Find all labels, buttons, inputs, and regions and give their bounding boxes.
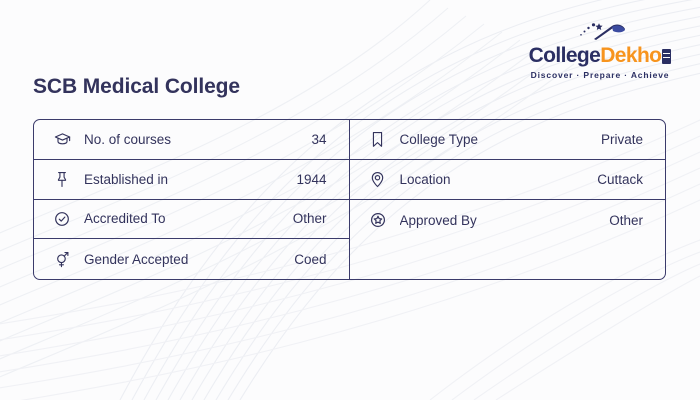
info-label: Location — [400, 172, 588, 187]
info-value: Coed — [294, 252, 326, 267]
info-column-right-filler — [350, 240, 666, 279]
logo-text-dekho: Dekho — [600, 44, 661, 67]
info-row-accredited-to[interactable]: Accredited To Other — [34, 200, 349, 240]
info-label: No. of courses — [84, 132, 301, 147]
info-row-college-type[interactable]: College Type Private — [350, 120, 666, 160]
info-label: Accredited To — [84, 211, 283, 226]
info-label: Gender Accepted — [84, 252, 284, 267]
star-badge-icon — [367, 210, 389, 230]
push-pin-icon — [51, 169, 73, 189]
bookmark-icon — [367, 130, 389, 150]
graduation-cap-icon — [572, 22, 628, 44]
info-value: Other — [609, 213, 643, 228]
info-value: 34 — [311, 132, 326, 147]
page-title: SCB Medical College — [33, 74, 240, 100]
info-label: College Type — [400, 132, 591, 147]
logo-book-mark-icon — [662, 49, 671, 64]
location-pin-icon — [367, 170, 389, 190]
info-label: Approved By — [400, 213, 600, 228]
info-row-no-of-courses[interactable]: No. of courses 34 — [34, 120, 349, 160]
college-info-card: CollegeDekho Discover · Prepare · Achiev… — [0, 0, 700, 400]
info-value: 1944 — [296, 172, 326, 187]
check-circle-icon — [51, 209, 73, 229]
info-value: Other — [293, 211, 327, 226]
logo-text-college: College — [529, 44, 601, 67]
brand-logo[interactable]: CollegeDekho Discover · Prepare · Achiev… — [526, 22, 674, 80]
gender-icon — [51, 249, 73, 269]
info-row-gender-accepted[interactable]: Gender Accepted Coed — [34, 239, 349, 279]
info-row-approved-by[interactable]: Approved By Other — [350, 200, 666, 240]
info-label: Established in — [84, 172, 286, 187]
info-value: Private — [601, 132, 643, 147]
info-value: Cuttack — [597, 172, 643, 187]
info-row-location[interactable]: Location Cuttack — [350, 160, 666, 200]
info-column-left: No. of courses 34 Established in 1944 — [34, 120, 350, 279]
info-row-established-in[interactable]: Established in 1944 — [34, 160, 349, 200]
college-info-table: No. of courses 34 Established in 1944 — [33, 119, 666, 280]
logo-tagline: Discover · Prepare · Achieve — [526, 70, 674, 80]
info-column-right: College Type Private Location Cuttack — [350, 120, 666, 279]
graduation-cap-icon — [51, 129, 73, 149]
